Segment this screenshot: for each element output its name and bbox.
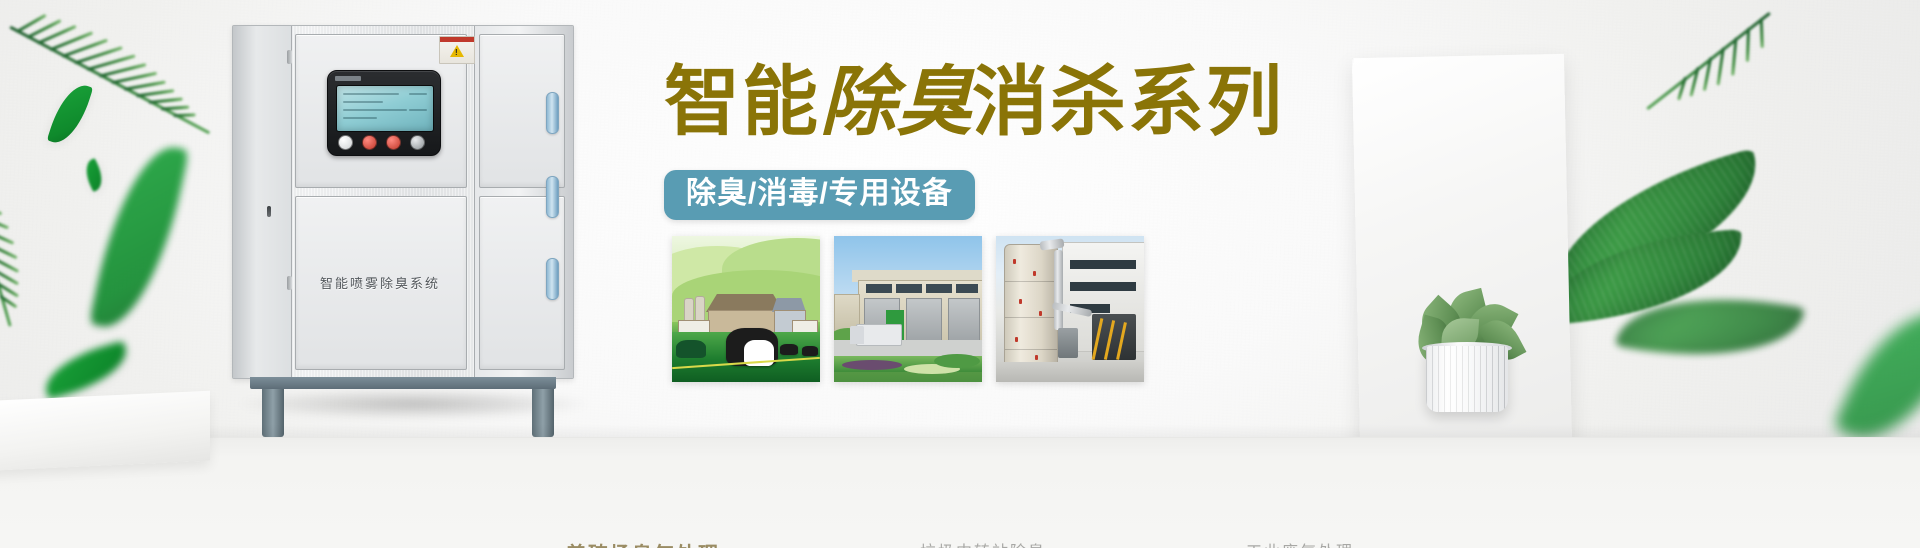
banana-leaf-icon: [1541, 229, 1746, 325]
door-hinge: [287, 276, 292, 290]
pasture-farm-photo[interactable]: [672, 236, 820, 382]
door-handle[interactable]: [546, 92, 559, 134]
hmi-brand-icon: [335, 76, 361, 81]
subtitle-badge: 除臭/消毒/专用设备: [664, 170, 975, 220]
door-handle[interactable]: [546, 176, 559, 218]
deodorizing-tower-photo[interactable]: [996, 236, 1144, 382]
mode-selector-knob[interactable]: [410, 135, 425, 150]
shelf-surface: [0, 437, 1920, 548]
hmi-control-panel[interactable]: [327, 70, 441, 156]
hmi-screen[interactable]: [336, 85, 434, 132]
application-thumbnails: [672, 236, 1144, 382]
stop-button[interactable]: [362, 135, 377, 150]
flower-pot: [1426, 346, 1508, 412]
headline-block: 智能除臭消杀系列 除臭/消毒/专用设备: [664, 62, 1324, 220]
page-title: 智能除臭消杀系列: [664, 62, 1324, 144]
leaf-icon: [47, 79, 93, 149]
product-banner: 智能喷雾除臭系统 智能除臭消杀系列 除臭/消毒/专用设备: [0, 0, 1920, 548]
product-cabinet: 智能喷雾除臭系统: [232, 25, 572, 425]
emergency-button[interactable]: [386, 135, 401, 150]
palm-frond-icon: [0, 161, 98, 355]
hmi-button-row[interactable]: [338, 135, 430, 149]
door-hinge: [287, 50, 292, 64]
door-handle[interactable]: [546, 258, 559, 300]
cabinet-caption: 智能喷雾除臭系统: [295, 196, 465, 368]
banana-leaf-icon: [1615, 277, 1804, 377]
door-latch[interactable]: [267, 206, 271, 217]
title-segment-2: 除臭: [820, 57, 972, 146]
power-button[interactable]: [338, 135, 353, 150]
leaf-icon: [89, 138, 189, 337]
title-segment-3: 消杀系列: [972, 61, 1284, 145]
palm-frond-icon: [1622, 0, 1791, 139]
cabinet-base: [250, 377, 556, 389]
title-segment-1: 智能: [664, 61, 820, 145]
warehouse-facility-photo[interactable]: [834, 236, 982, 382]
leaf-icon: [39, 341, 134, 400]
warning-label-icon: [439, 36, 475, 64]
marble-slab-left: [0, 391, 210, 471]
palm-frond-icon: [0, 0, 230, 166]
cabinet-body: 智能喷雾除臭系统: [232, 25, 574, 379]
potted-plant: [1392, 268, 1542, 418]
leaf-icon: [80, 158, 108, 192]
cabinet-left-panel: [233, 26, 292, 378]
